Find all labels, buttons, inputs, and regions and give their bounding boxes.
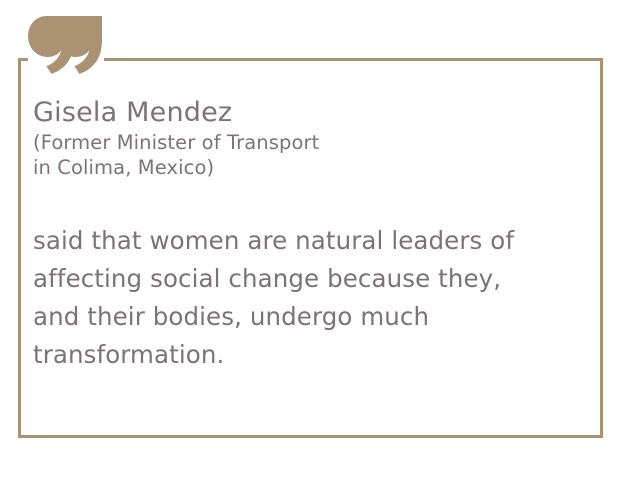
frame-top-border <box>104 58 603 61</box>
quote-text: said that women are natural leaders of a… <box>33 222 585 374</box>
attribution-role-line-2: in Colima, Mexico) <box>33 155 585 180</box>
frame-bottom-border <box>18 435 603 438</box>
open-double-quote-icon <box>28 16 102 74</box>
quote-line: transformation. <box>33 336 585 374</box>
quote-line: said that women are natural leaders of <box>33 222 585 260</box>
frame-left-border <box>18 58 21 438</box>
quote-card: Gisela Mendez (Former Minister of Transp… <box>0 0 620 490</box>
quote-line: affecting social change because they, <box>33 260 585 298</box>
attribution-name: Gisela Mendez <box>33 96 585 130</box>
frame-right-border <box>600 58 603 438</box>
quote-content: Gisela Mendez (Former Minister of Transp… <box>33 96 585 374</box>
attribution-role-line-1: (Former Minister of Transport <box>33 130 585 155</box>
quote-line: and their bodies, undergo much <box>33 298 585 336</box>
